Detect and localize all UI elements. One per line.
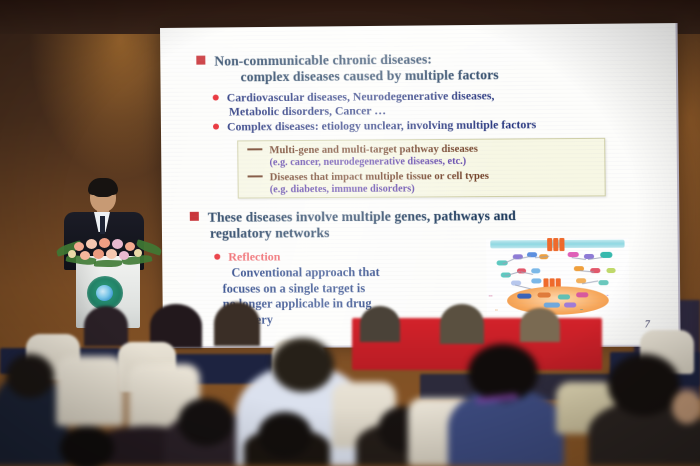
round-bullet-icon: [213, 94, 219, 100]
inset-item-1-heading-text: Multi-gene and multi-target pathway dise…: [269, 144, 478, 157]
attendee-head: [258, 412, 312, 458]
bullet-1-line-2: Metabolic disorders, Cancer …: [229, 102, 668, 119]
attendee-head: [608, 354, 680, 416]
flower: [125, 242, 135, 251]
pathway-node: [606, 268, 615, 273]
flower: [93, 249, 104, 259]
slide-heading-1: Non-communicable chronic diseases: compl…: [196, 49, 672, 84]
attendee-head: [178, 398, 234, 446]
inset-item-1-example: (e.g. cancer, neurodegenerative diseases…: [269, 156, 478, 169]
attendee-head: [272, 338, 334, 392]
inset-item-2-example: (e.g. diabetes, immune disorders): [270, 183, 489, 196]
square-bullet-icon: [196, 56, 205, 65]
nucleus-ellipse: [507, 286, 609, 315]
reflection-title: Reflection: [214, 249, 280, 264]
speaker-hair: [88, 178, 118, 195]
conference-photo: Non-communicable chronic diseases: compl…: [0, 0, 700, 466]
pathway-edge: [580, 270, 594, 272]
pathway-node: [531, 278, 541, 283]
receptor-icon: [553, 238, 558, 251]
slide-bullet-2: Complex diseases: etiology unclear, invo…: [213, 117, 675, 134]
nuclear-node: [537, 292, 550, 297]
pathway-node: [598, 280, 608, 285]
square-bullet-icon: [190, 212, 199, 221]
inset-item-2-heading: Diseases that impact multiple tissue or …: [248, 171, 489, 185]
bullet-2-text: Complex diseases: etiology unclear, invo…: [227, 118, 536, 133]
flower-arrangement: [56, 234, 162, 268]
slide-heading-2: These diseases involve multiple genes, p…: [190, 207, 647, 241]
flower: [106, 249, 117, 259]
flower: [134, 249, 142, 257]
receptor-icon: [547, 238, 552, 251]
foreground-audience: [0, 330, 700, 466]
foliage: [94, 260, 122, 268]
diagram-label: ▪▪: [607, 294, 609, 297]
bullet-1-line-1: Cardiovascular diseases, Neurodegenerati…: [227, 89, 495, 104]
attendee-head: [6, 354, 54, 398]
heading-1-line-2: complex diseases caused by multiple fact…: [241, 65, 672, 84]
attendee-hand: [672, 390, 700, 424]
reflection-line-1: Conventional approach that: [231, 265, 413, 281]
round-bullet-icon: [213, 123, 219, 129]
inset-item-2: Diseases that impact multiple tissue or …: [248, 171, 490, 196]
heading-2-line-1: These diseases involve multiple genes, p…: [208, 208, 516, 225]
attendee-head: [468, 344, 538, 402]
flower: [86, 239, 97, 249]
nuclear-node: [576, 292, 588, 297]
speaker-tie: [100, 216, 105, 234]
heading-1-line-1: Non-communicable chronic diseases:: [214, 52, 432, 69]
nuclear-node: [558, 294, 570, 299]
slide-inset-box: Multi-gene and multi-target pathway dise…: [237, 138, 606, 199]
flower: [68, 250, 76, 258]
dash-icon: [248, 175, 263, 177]
diagram-label: ▪▪▪▪: [489, 295, 493, 298]
round-bullet-icon: [214, 253, 220, 259]
flower: [112, 239, 123, 249]
nuclear-node: [564, 302, 576, 307]
dash-icon: [247, 148, 262, 150]
reflection-line-2: focuses on a single target is: [223, 281, 414, 297]
inset-item-1: Multi-gene and multi-target pathway dise…: [247, 144, 478, 169]
signaling-pathway-diagram: ▪▪▪▪ ▪▪▪ ▪▪▪▪ ▪▪▪ ▪▪: [486, 238, 629, 319]
pathway-node: [531, 268, 540, 273]
slide-bullet-1: Cardiovascular diseases, Neurodegenerati…: [213, 88, 669, 119]
projection-screen: Non-communicable chronic diseases: compl…: [160, 23, 681, 348]
flower: [74, 242, 84, 251]
chair-back: [56, 356, 124, 426]
nuclear-node: [517, 294, 531, 299]
attendee-head: [60, 426, 114, 466]
flower: [119, 251, 129, 260]
flower: [80, 251, 90, 260]
inset-item-2-heading-text: Diseases that impact multiple tissue or …: [270, 171, 489, 183]
flower: [99, 238, 110, 248]
podium-emblem-icon: [87, 276, 123, 310]
receptor-icon: [559, 238, 564, 251]
nuclear-node: [544, 303, 560, 308]
reflection-title-text: Reflection: [228, 249, 280, 263]
presentation-slide: Non-communicable chronic diseases: compl…: [160, 23, 681, 348]
